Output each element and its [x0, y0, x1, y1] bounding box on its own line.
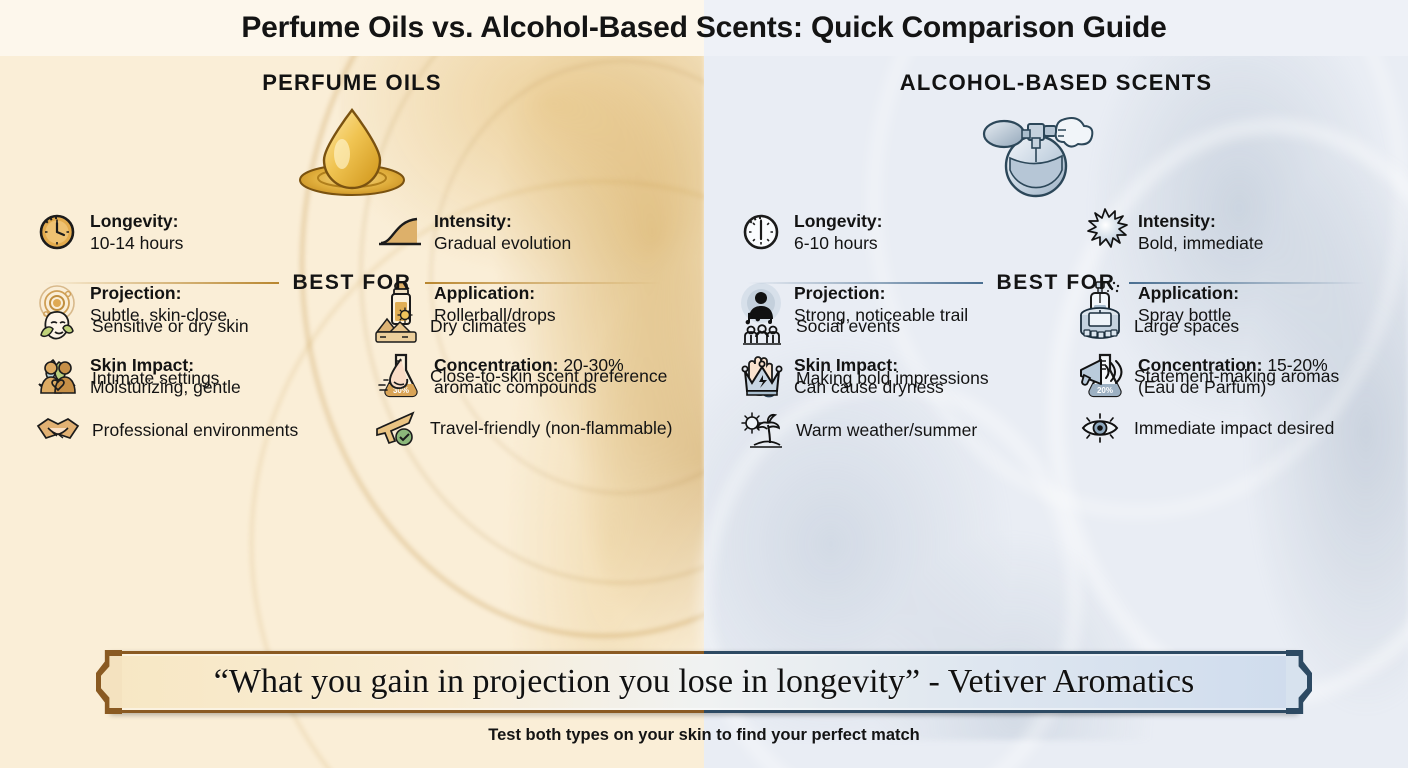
clock-icon: [738, 208, 784, 254]
attribute-label: Intensity:: [434, 211, 512, 231]
list-item: Immediate impact desired: [1078, 406, 1398, 450]
attribute-label: Intensity:: [1138, 211, 1216, 231]
infographic-canvas: Perfume Oils vs. Alcohol-Based Scents: Q…: [0, 0, 1408, 768]
left-best-for-list: Sensitive or dry skin Intimate settings: [0, 304, 704, 504]
list-item-label: Close-to-skin scent preference: [430, 366, 667, 387]
list-item: Making bold impressions: [740, 356, 1050, 400]
attribute-intensity: Intensity: Bold, immediate: [1082, 208, 1394, 255]
divider-line: [43, 282, 279, 284]
handshake-icon: [36, 408, 80, 452]
party-crowd-icon: [740, 304, 784, 348]
list-item-text: Travel-friendly (non-flammable): [430, 418, 672, 438]
attribute-value: 6-10 hours: [794, 233, 878, 253]
eye-icon: [1078, 406, 1122, 450]
arena-icon: [1078, 304, 1122, 348]
footnote: Test both types on your skin to find you…: [0, 726, 1408, 745]
list-item-label: Intimate settings: [92, 368, 219, 389]
atomizer-bottle-icon: [704, 100, 1408, 200]
list-item: Intimate settings: [36, 356, 346, 400]
list-item-label: Immediate impact desired: [1134, 418, 1334, 439]
list-item: Dry climates: [374, 304, 694, 348]
best-for-label: BEST FOR: [293, 271, 412, 295]
attribute-value: Bold, immediate: [1138, 233, 1263, 253]
best-for-label: BEST FOR: [997, 271, 1116, 295]
airplane-check-icon: [374, 406, 418, 450]
face-leaf-icon: [36, 304, 80, 348]
list-item-label: Statement-making aromas: [1134, 366, 1339, 387]
attribute-intensity: Intensity: Gradual evolution: [378, 208, 690, 255]
sun-palm-icon: [740, 408, 784, 452]
list-item-label: Professional environments: [92, 420, 298, 441]
page-title: Perfume Oils vs. Alcohol-Based Scents: Q…: [0, 0, 1408, 56]
list-item-label: Travel-friendly (non-flammable): [430, 418, 672, 439]
left-best-for-header: BEST FOR: [0, 268, 704, 298]
attribute-text: Intensity: Bold, immediate: [1138, 208, 1263, 255]
list-item: Large spaces: [1078, 304, 1398, 348]
list-item-label: Making bold impressions: [796, 368, 989, 389]
list-item-label: Dry climates: [430, 316, 526, 337]
curve-graph-icon: [378, 208, 424, 254]
quote-text: “What you gain in projection you lose in…: [96, 651, 1312, 713]
divider-line: [1129, 282, 1365, 284]
list-item: Close-to-skin scent preference: [374, 354, 694, 398]
burst-icon: [1082, 208, 1128, 254]
couple-icon: [36, 356, 80, 400]
list-item: Social events: [740, 304, 1050, 348]
attribute-text: Longevity: 10-14 hours: [90, 208, 183, 255]
crown-icon: [740, 356, 784, 400]
right-column-title: ALCOHOL-BASED SCENTS: [704, 70, 1408, 96]
attribute-value: Gradual evolution: [434, 233, 571, 253]
attribute-longevity: Longevity: 10-14 hours: [34, 208, 334, 255]
list-item: Warm weather/summer: [740, 408, 1050, 452]
desert-sun-icon: [374, 304, 418, 348]
attribute-longevity: Longevity: 6-10 hours: [738, 208, 1038, 255]
divider-line: [425, 282, 661, 284]
list-item: Professional environments: [36, 408, 346, 452]
list-item-label: Warm weather/summer: [796, 420, 977, 441]
list-item-label: Large spaces: [1134, 316, 1239, 337]
list-item: Sensitive or dry skin: [36, 304, 346, 348]
list-item: Travel-friendly (non-flammable): [374, 406, 694, 450]
attribute-label: Longevity:: [90, 211, 178, 231]
divider-line: [747, 282, 983, 284]
attribute-text: Intensity: Gradual evolution: [434, 208, 571, 255]
list-item-label: Social events: [796, 316, 900, 337]
nose-icon: [374, 354, 418, 398]
megaphone-icon: [1078, 354, 1122, 398]
list-item-text: Close-to-skin scent preference: [430, 366, 667, 386]
right-best-for-header: BEST FOR: [704, 268, 1408, 298]
oil-drop-icon: [0, 100, 704, 200]
quote-banner: “What you gain in projection you lose in…: [96, 651, 1312, 713]
header-bar: Perfume Oils vs. Alcohol-Based Scents: Q…: [0, 0, 1408, 56]
attribute-text: Longevity: 6-10 hours: [794, 208, 882, 255]
list-item-label: Sensitive or dry skin: [92, 316, 249, 337]
attribute-label: Longevity:: [794, 211, 882, 231]
list-item: Statement-making aromas: [1078, 354, 1398, 398]
left-column-title: PERFUME OILS: [0, 70, 704, 96]
clock-icon: [34, 208, 80, 254]
attribute-value: 10-14 hours: [90, 233, 183, 253]
right-best-for-list: Social events Making bold impressions: [704, 304, 1408, 504]
